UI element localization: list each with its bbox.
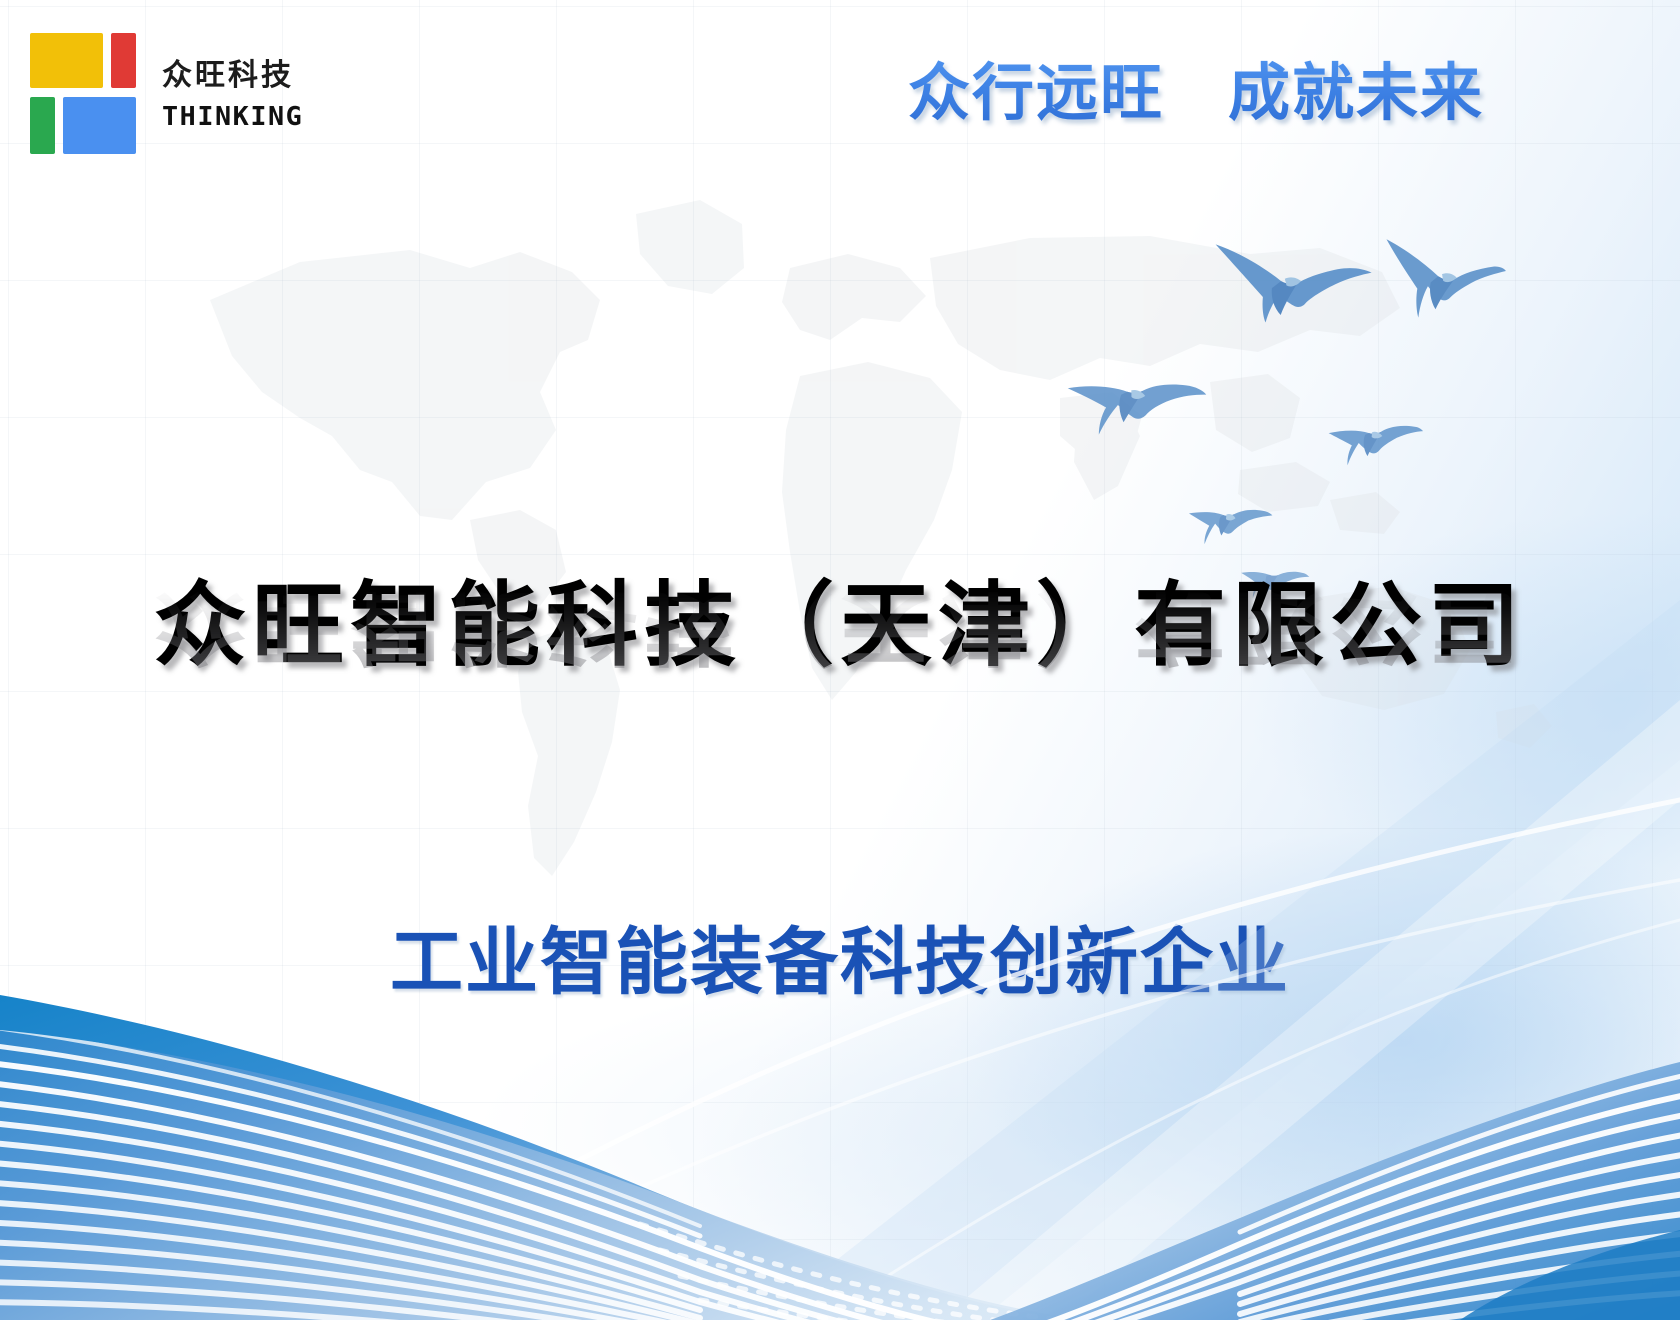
logo-mark-icon: [30, 33, 136, 154]
logo-wordmark: 众旺科技 THINKING: [162, 31, 299, 156]
left-striped-fan: [0, 1000, 1200, 1320]
seagull-icon: [1324, 411, 1424, 480]
page-title-reflection: 众旺智能科技（天津）有限公司: [0, 579, 1680, 672]
left-blue-wedge: [0, 995, 1070, 1320]
company-logo[interactable]: 众旺科技 THINKING: [30, 31, 299, 156]
title-slide: 众旺科技 THINKING 众行远旺 成就未来 众旺智能科技（天津）有限公司 众…: [0, 0, 1680, 1320]
page-subtitle: 工业智能装备科技创新企业: [0, 903, 1680, 1009]
title-group: 众旺智能科技（天津）有限公司 众旺智能科技（天津）有限公司: [0, 572, 1680, 781]
logo-name-en: THINKING: [162, 102, 303, 132]
logo-blue-block: [63, 97, 136, 154]
sweep-arcs: [300, 800, 1680, 1320]
seagull-icon: [1203, 217, 1382, 346]
logo-name-cn: 众旺科技: [162, 59, 299, 93]
logo-red-block: [111, 33, 136, 88]
seagull-icon: [1057, 354, 1211, 463]
seagull-icon: [1380, 226, 1509, 326]
right-striped-fan: [900, 1040, 1680, 1320]
header-slogan: 众行远旺 成就未来: [908, 56, 1484, 129]
logo-green-block: [30, 97, 55, 154]
seagull-icon: [1183, 493, 1275, 560]
bottom-right-accent: [1460, 1230, 1680, 1320]
logo-yellow-block: [30, 33, 103, 88]
